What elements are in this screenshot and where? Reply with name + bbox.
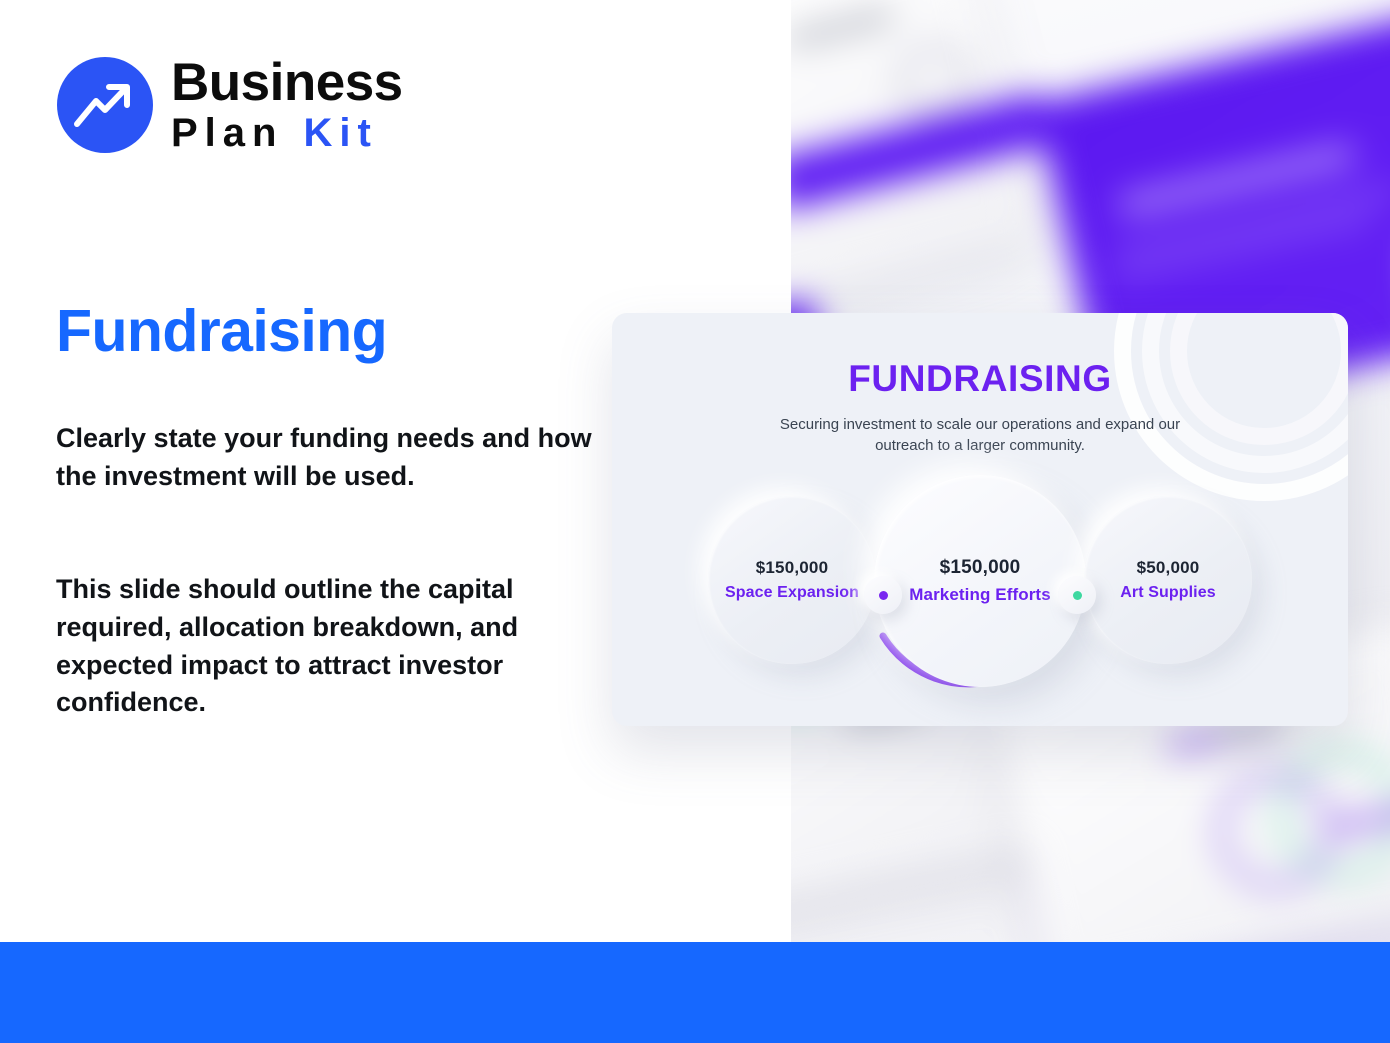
slide-canvas: Business Plan Kit Fundraising Clearly st… [0,0,1390,1043]
brand-name-plan: Plan [171,113,283,153]
funding-label: Space Expansion [725,584,859,602]
bottom-accent-bar [0,942,1390,1043]
funding-item-space-expansion[interactable]: $150,000 Space Expansion [708,496,876,664]
slide-preview-card[interactable]: FUNDRAISING Securing investment to scale… [612,313,1348,726]
funding-label: Marketing Efforts [909,585,1051,605]
description-paragraph-1: Clearly state your funding needs and how… [56,420,596,496]
trend-arrow-circle-icon [57,57,153,153]
funding-amount: $150,000 [756,558,829,578]
brand-name-business: Business [171,56,403,109]
slide-subtitle: Securing investment to scale our operati… [765,414,1195,457]
brand-logo: Business Plan Kit [57,56,403,153]
funding-amount: $50,000 [1137,558,1200,578]
left-connector-dot-icon [864,576,902,614]
brand-wordmark: Business Plan Kit [171,56,403,153]
slide-title: FUNDRAISING [612,358,1348,400]
description-paragraph-2: This slide should outline the capital re… [56,571,596,722]
funding-amount: $150,000 [940,557,1021,579]
funding-label: Art Supplies [1120,584,1215,602]
funding-item-art-supplies[interactable]: $50,000 Art Supplies [1084,496,1252,664]
brand-name-plan-kit: Plan Kit [171,113,403,153]
funding-breakdown-chart: $150,000 Space Expansion $150,000 Market… [612,461,1348,701]
page-title: Fundraising [56,297,387,365]
funding-item-marketing-efforts[interactable]: $150,000 Marketing Efforts [874,475,1086,687]
brand-name-kit: Kit [303,113,377,153]
right-connector-dot-icon [1058,576,1096,614]
